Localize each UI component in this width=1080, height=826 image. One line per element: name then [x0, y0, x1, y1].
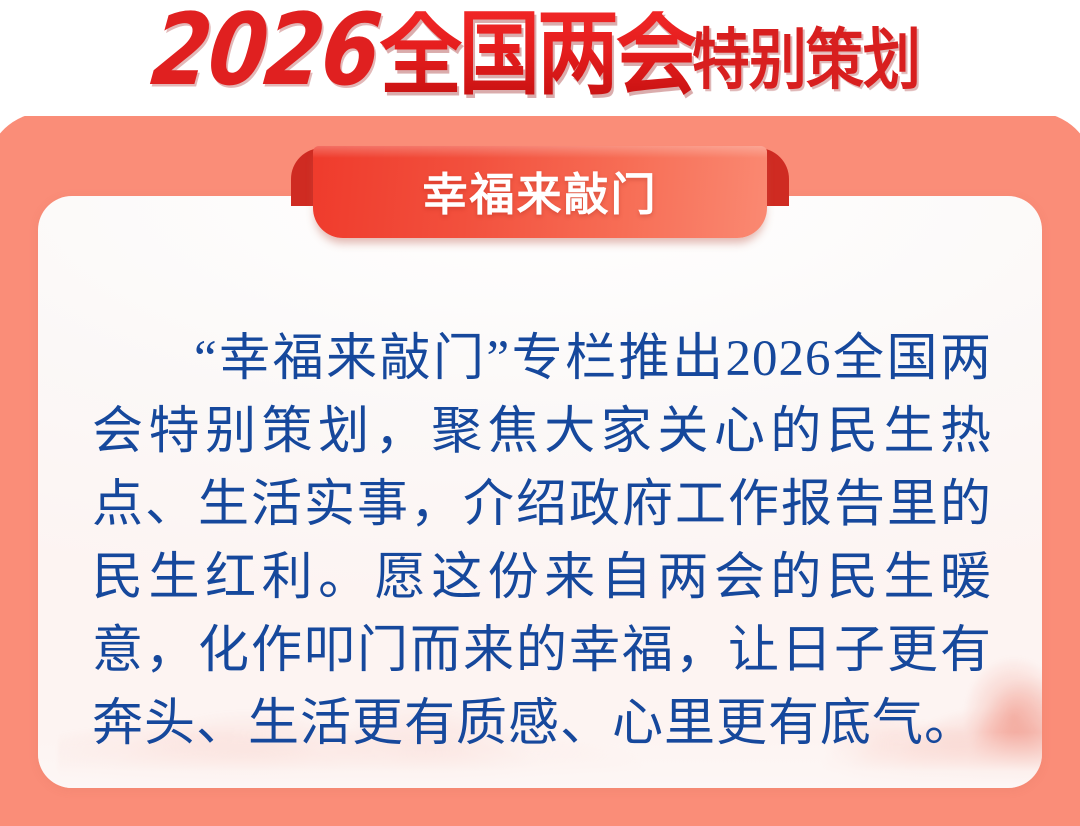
masthead-inner: 2026 全国两会 特别策划 [148, 19, 920, 96]
masthead-main-title: 全国两会 [380, 11, 698, 96]
ribbon-title-text: 幸福来敲门 [291, 146, 789, 238]
poster-root: 2026 全国两会 特别策划 幸福来敲门 “幸福来敲门”专栏推出2026全国两会… [0, 0, 1080, 826]
body-paragraph: “幸福来敲门”专栏推出2026全国两会特别策划，聚焦大家关心的民生热点、生活实事… [92, 323, 992, 761]
ribbon-title-plaque: 幸福来敲门 [291, 146, 789, 238]
masthead: 2026 全国两会 特别策划 [0, 0, 1080, 116]
masthead-year: 2026 [148, 5, 389, 96]
masthead-subtitle: 特别策划 [692, 27, 920, 93]
